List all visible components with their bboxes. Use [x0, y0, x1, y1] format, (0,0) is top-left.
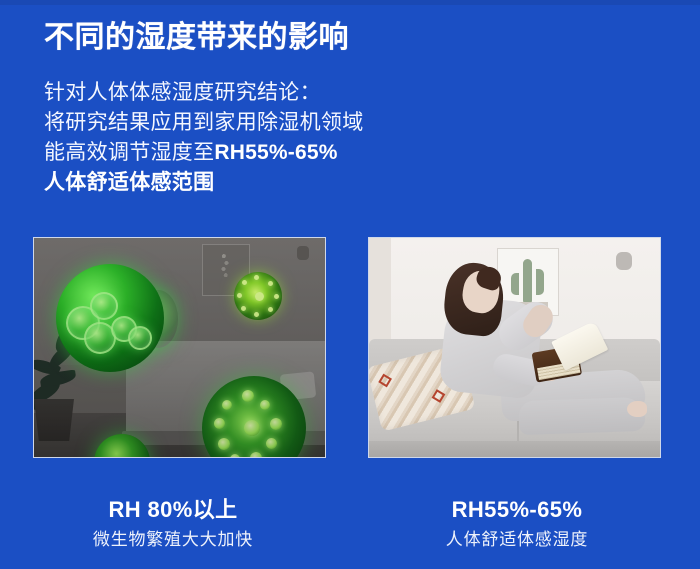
pillow-motif — [378, 374, 392, 388]
body-line-3-highlight: RH55%-65% — [214, 141, 337, 164]
caption-left-subtitle: 微生物繁殖大大加快 — [8, 528, 338, 552]
body-line-4: 人体舒适体感范围 — [44, 168, 474, 198]
body-line-3: 能高效调节湿度至RH55%-65% — [44, 138, 474, 168]
photo-left-high-humidity — [33, 237, 326, 458]
body-copy-block: 针对人体体感湿度研究结论： 将研究结果应用到家用除湿机领域 能高效调节湿度至RH… — [44, 78, 474, 198]
caption-right: RH55%-65% 人体舒适体感湿度 — [352, 496, 682, 552]
top-edge-band — [0, 0, 700, 5]
caption-left-title: RH 80%以上 — [8, 496, 338, 524]
page-title: 不同的湿度带来的影响 — [44, 18, 349, 58]
photo-panels — [0, 237, 700, 459]
body-line-3-text: 能高效调节湿度至 — [44, 141, 214, 164]
caption-left: RH 80%以上 微生物繁殖大大加快 — [8, 496, 338, 552]
scene-shadow-overlay — [34, 238, 325, 457]
photo-right-comfort-humidity — [368, 237, 661, 458]
body-line-1: 针对人体体感湿度研究结论： — [44, 78, 474, 108]
caption-right-title: RH55%-65% — [352, 496, 682, 524]
poster-root: 不同的湿度带来的影响 针对人体体感湿度研究结论： 将研究结果应用到家用除湿机领域… — [0, 0, 700, 569]
woman-reading — [427, 263, 645, 439]
caption-right-subtitle: 人体舒适体感湿度 — [352, 528, 682, 552]
body-line-2: 将研究结果应用到家用除湿机领域 — [44, 108, 474, 138]
legs-lower — [518, 397, 645, 435]
scene-dark-livingroom — [34, 238, 325, 457]
sofa-base — [369, 441, 660, 457]
foot — [627, 401, 647, 417]
scene-bright-livingroom — [369, 238, 660, 457]
